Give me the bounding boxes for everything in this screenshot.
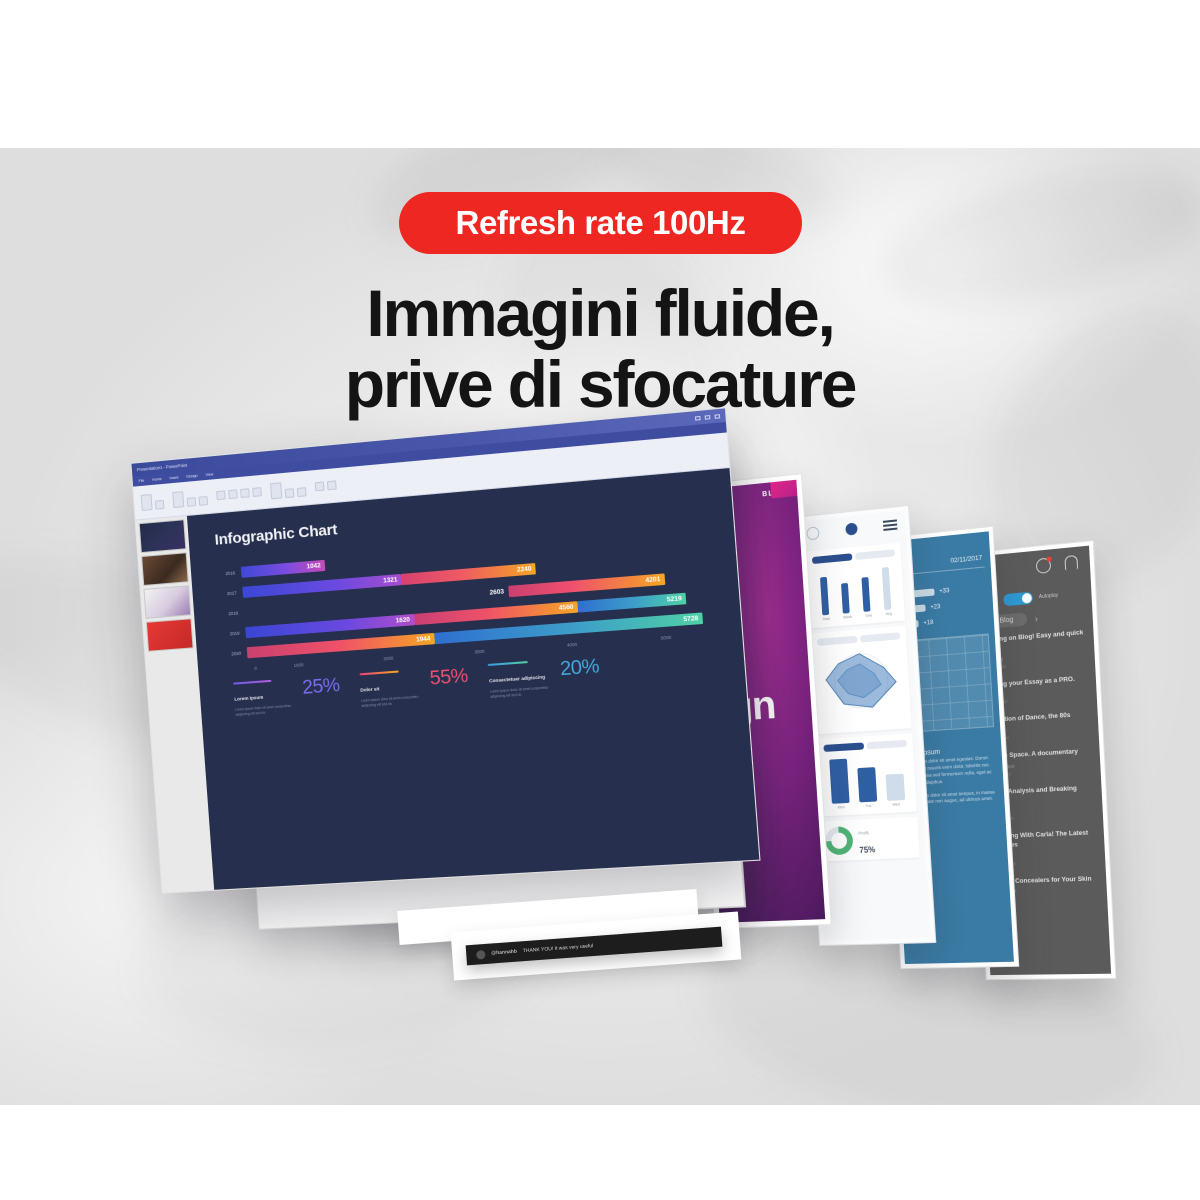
stat-body: Lorem ipsum dolor sit amet consectetur a… xyxy=(235,703,298,717)
axis-tick: Mon xyxy=(838,805,845,809)
bar-value: 1042 xyxy=(306,562,325,571)
bar xyxy=(882,567,892,610)
tab-view[interactable]: View xyxy=(205,472,213,477)
bar-value: 4560 xyxy=(559,603,578,612)
promo-banner: Refresh rate 100Hz Immagini fluide, priv… xyxy=(0,0,1200,1200)
stat-block: Dolor sit Lorem ipsum dolor sit amet con… xyxy=(359,665,470,708)
stat-percent: 25% xyxy=(302,675,341,700)
donut-label: Profit xyxy=(858,830,869,836)
close-icon[interactable] xyxy=(714,414,720,419)
bold-icon[interactable] xyxy=(216,490,226,500)
menu-icon[interactable] xyxy=(883,520,898,531)
axis-tick: 2020 xyxy=(217,650,247,657)
bar-chart xyxy=(824,753,910,804)
shapes-icon[interactable] xyxy=(270,482,282,499)
window-presentation-editor[interactable]: Presentation1 - PowerPoint File Home Ins… xyxy=(130,407,760,893)
slide-thumbnail-2[interactable] xyxy=(141,552,189,586)
bell-icon[interactable] xyxy=(1064,555,1078,570)
font-color-icon[interactable] xyxy=(252,487,262,497)
search-icon[interactable] xyxy=(806,526,819,540)
bar-value: 1620 xyxy=(395,616,414,625)
card-radar-chart[interactable] xyxy=(811,626,912,735)
card-profit-donut[interactable]: Profit 75% xyxy=(822,817,920,862)
stat-block: Lorem ipsum Lorem ipsum dolor sit amet c… xyxy=(233,675,341,718)
new-slide-icon[interactable] xyxy=(172,491,184,508)
stat-rule xyxy=(359,671,398,676)
bar-value: 1944 xyxy=(416,635,435,644)
paste-icon[interactable] xyxy=(141,494,153,511)
axis-tick: 2019 xyxy=(215,630,245,637)
axis-tick: Wed xyxy=(892,802,900,806)
ribbon-group-drawing[interactable] xyxy=(270,480,307,499)
segment-active[interactable] xyxy=(812,553,852,564)
axis-tick: 2018 xyxy=(214,610,244,617)
replace-icon[interactable] xyxy=(327,480,337,490)
bar xyxy=(829,759,849,804)
tab-home[interactable]: Home xyxy=(152,477,162,482)
avatar xyxy=(476,949,486,959)
axis-tick: 5000 xyxy=(619,632,714,644)
axis-tick: 3000 xyxy=(434,646,526,658)
bar xyxy=(841,583,850,614)
donut-chart xyxy=(825,826,854,855)
card-vertical-bars[interactable]: Total Week Day Avg xyxy=(806,543,905,629)
slide-thumbnail-4[interactable] xyxy=(146,618,194,652)
comment-username: @hannahb xyxy=(491,949,517,957)
bar-value: 5219 xyxy=(667,595,687,604)
bar-chart xyxy=(813,562,899,616)
axis-tick: 2016 xyxy=(211,570,241,578)
ribbon-group-clipboard[interactable] xyxy=(141,492,165,510)
italic-icon[interactable] xyxy=(228,489,238,499)
ribbon-group-editing[interactable] xyxy=(315,480,337,491)
bar-segment: 2240 xyxy=(401,563,536,585)
delta-value: +23 xyxy=(930,604,940,611)
segmented-control[interactable] xyxy=(817,632,900,646)
underline-icon[interactable] xyxy=(240,488,250,498)
slide-canvas[interactable]: Infographic Chart 2016 1042 xyxy=(187,468,759,890)
maximize-icon[interactable] xyxy=(705,415,711,420)
axis-tick: 2000 xyxy=(343,653,434,665)
segment-inactive[interactable] xyxy=(854,549,895,560)
tab-file[interactable]: File xyxy=(139,479,145,484)
stat-percent: 20% xyxy=(559,656,599,682)
stat-heading: Dolor sit xyxy=(360,686,379,692)
segment-active[interactable] xyxy=(823,742,863,751)
comment-message: THANK YOU! It was very useful xyxy=(523,943,594,954)
stat-heading: Consectetuer adipiscing xyxy=(489,674,545,683)
stat-rule xyxy=(488,661,528,666)
messages-icon[interactable] xyxy=(1036,557,1052,574)
axis-tick: Week xyxy=(843,615,852,620)
axis-tick: 1000 xyxy=(254,659,343,671)
bar-segment: 5219 xyxy=(577,593,686,613)
ribbon-group-slides[interactable] xyxy=(172,488,208,507)
delta-value: +33 xyxy=(939,588,949,595)
tab-design[interactable]: Design xyxy=(186,474,197,479)
tab-insert[interactable]: Insert xyxy=(169,475,178,480)
segment-inactive[interactable] xyxy=(860,632,901,642)
stat-body: Lorem ipsum dolor sit amet consectetur a… xyxy=(361,694,425,708)
bar-value: 5728 xyxy=(683,615,703,624)
slide-thumbnail-1[interactable] xyxy=(139,519,187,553)
window-stack: Autoplay Blog › Starting on Blog! Easy a… xyxy=(0,0,1200,1200)
stat-block: Consectetuer adipiscing Lorem ipsum dolo… xyxy=(488,656,601,700)
axis-tick: Total xyxy=(822,617,830,622)
bar-value: 4201 xyxy=(645,576,665,585)
cut-icon[interactable] xyxy=(155,499,165,509)
bar xyxy=(820,577,829,616)
card-bar-compare[interactable]: Mon Tue Wed xyxy=(817,733,917,816)
slide-thumbnail-3[interactable] xyxy=(144,585,192,619)
autoplay-toggle-label: Autoplay xyxy=(1039,592,1059,600)
window-title: Presentation1 - PowerPoint xyxy=(137,463,188,473)
arrange-icon[interactable] xyxy=(285,488,295,498)
axis-tick: Tue xyxy=(865,804,871,808)
bar xyxy=(857,767,877,802)
stat-heading: Lorem ipsum xyxy=(234,695,263,702)
minimize-icon[interactable] xyxy=(695,415,701,420)
axis-tick: Day xyxy=(866,613,873,618)
bar-value: 2603 xyxy=(489,588,508,597)
axis-tick: 2017 xyxy=(213,590,243,597)
axis-tick: Avg xyxy=(885,612,891,617)
ribbon-group-font[interactable] xyxy=(216,487,262,500)
user-icon[interactable] xyxy=(845,522,858,535)
delta-value: +18 xyxy=(923,619,933,626)
bar xyxy=(861,577,870,612)
segmented-control[interactable] xyxy=(812,549,895,564)
stat-percent: 55% xyxy=(429,665,469,690)
quick-styles-icon[interactable] xyxy=(297,487,307,497)
segment-inactive[interactable] xyxy=(866,740,907,750)
layout-icon[interactable] xyxy=(187,497,197,507)
stat-rule xyxy=(233,680,271,685)
bar-segment: 1042 xyxy=(241,560,325,578)
find-icon[interactable] xyxy=(315,481,325,491)
chevron-right-icon[interactable]: › xyxy=(1035,613,1038,623)
bar-value: 2240 xyxy=(517,565,536,574)
window-controls[interactable] xyxy=(695,414,720,420)
bar xyxy=(886,774,906,801)
segmented-control[interactable] xyxy=(823,740,906,752)
corner-accent xyxy=(770,480,797,499)
radar-chart xyxy=(818,645,906,728)
reset-icon[interactable] xyxy=(198,495,208,505)
radar-svg xyxy=(818,645,905,715)
bar-value: 1321 xyxy=(383,576,402,585)
axis-tick: 4000 xyxy=(525,639,619,651)
stat-body: Lorem ipsum dolor sit amet consectetur a… xyxy=(490,685,556,699)
segment-inactive[interactable] xyxy=(817,636,857,646)
dashboard-toolbar xyxy=(798,511,906,548)
donut-value: 75% xyxy=(859,845,875,855)
